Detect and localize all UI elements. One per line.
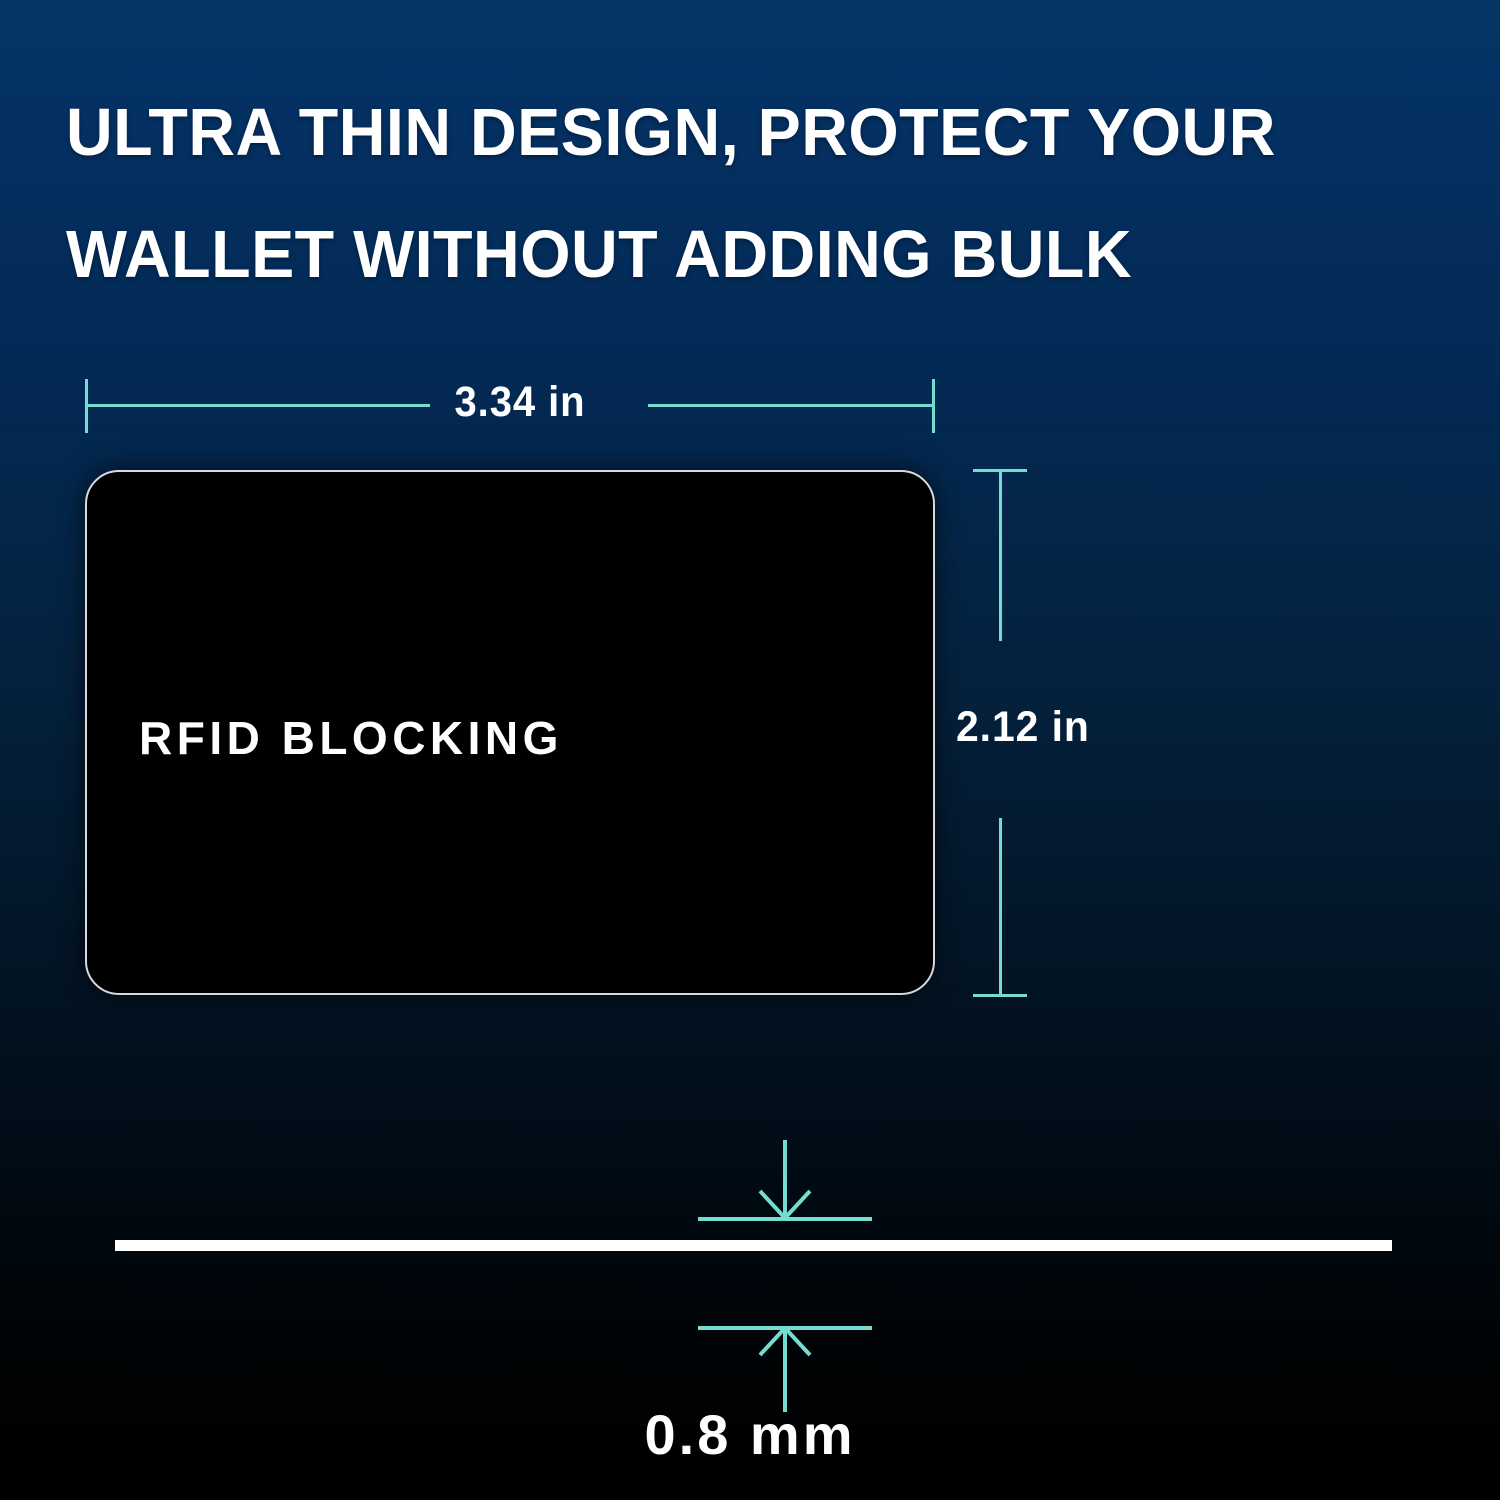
page-title: ULTRA THIN DESIGN, PROTECT YOUR WALLET W… xyxy=(66,72,1366,316)
height-dimension-label: 2.12 in xyxy=(956,703,1090,752)
thickness-arrow-top-head-left xyxy=(760,1191,785,1218)
thickness-arrow-top-head-right xyxy=(785,1191,810,1218)
width-dimension-label: 3.34 in xyxy=(436,378,603,427)
height-rule-top xyxy=(999,469,1002,641)
thickness-dimension-label: 0.8 mm xyxy=(0,1402,1500,1467)
width-rule-left xyxy=(85,404,430,407)
height-rule-bottom xyxy=(999,818,1002,997)
width-tick-right xyxy=(932,379,935,433)
width-tick-left xyxy=(85,379,88,433)
rfid-card-label: RFID BLOCKING xyxy=(139,711,563,765)
thickness-arrow-bottom-head-left xyxy=(760,1328,785,1355)
width-rule-right xyxy=(648,404,935,407)
headline-line-1: ULTRA THIN DESIGN, PROTECT YOUR xyxy=(66,72,1321,194)
headline-line-2: WALLET WITHOUT ADDING BULK xyxy=(66,194,1321,316)
product-infographic: ULTRA THIN DESIGN, PROTECT YOUR WALLET W… xyxy=(0,0,1500,1500)
rfid-card: RFID BLOCKING xyxy=(85,470,935,995)
thickness-arrow-bottom-head-right xyxy=(785,1328,810,1355)
thickness-arrows xyxy=(640,1130,930,1420)
